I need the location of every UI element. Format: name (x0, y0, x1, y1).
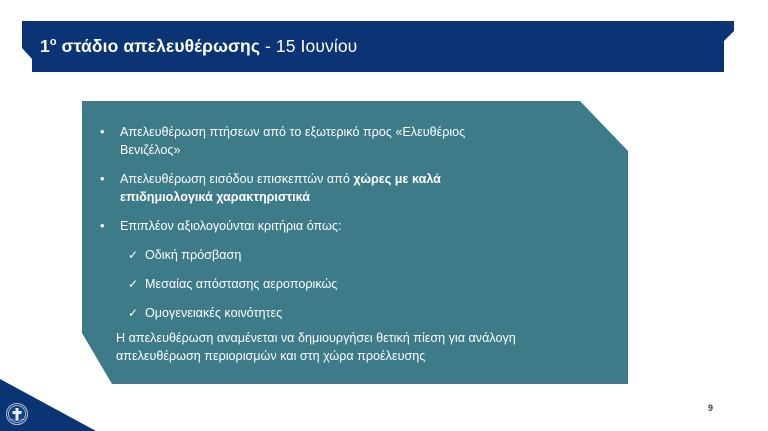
list-item: • Επιπλέον αξιολογούνται κριτήρια όπως: (96, 217, 608, 235)
bullet-text: Απελευθέρωση πτήσεων από το εξωτερικό πρ… (120, 123, 520, 159)
closing-note: Η απελευθέρωση αναμένεται να δημιουργήσε… (96, 329, 528, 365)
content-body: • Απελευθέρωση πτήσεων από το εξωτερικό … (96, 123, 608, 365)
bullet-text-normal: Απελευθέρωση πτήσεων από το εξωτερικό πρ… (120, 125, 465, 157)
slide-canvas: 1ο στάδιο απελευθέρωσης - 15 Ιουνίου • Α… (0, 0, 768, 431)
bullet-icon: • (96, 123, 120, 141)
checkmark-icon: ✓ (128, 275, 145, 293)
page-title: 1ο στάδιο απελευθέρωσης - 15 Ιουνίου (22, 36, 357, 57)
checkmark-icon: ✓ (128, 304, 145, 322)
bullet-text-normal: Απελευθέρωση εισόδου επισκεπτών από (120, 172, 353, 186)
title-superscript: ο (50, 36, 57, 48)
check-item-label: Μεσαίας απόστασης αεροπορικώς (145, 275, 608, 293)
bullet-text: Επιπλέον αξιολογούνται κριτήρια όπως: (120, 217, 520, 235)
bullet-icon: • (96, 217, 120, 235)
check-item-label: Ομογενειακές κοινότητες (145, 304, 608, 322)
checkmark-icon: ✓ (128, 246, 145, 264)
list-item: ✓ Οδική πρόσβαση (96, 246, 608, 264)
bullet-text-normal: Επιπλέον αξιολογούνται κριτήρια όπως: (120, 219, 341, 233)
title-banner: 1ο στάδιο απελευθέρωσης - 15 Ιουνίου (22, 21, 734, 72)
bullet-text: Απελευθέρωση εισόδου επισκεπτών από χώρε… (120, 170, 520, 206)
title-number: 1 (40, 36, 50, 56)
title-separator: - (260, 36, 276, 56)
hellenic-republic-emblem-icon (6, 403, 28, 425)
bullet-icon: • (96, 170, 120, 188)
list-item: ✓ Μεσαίας απόστασης αεροπορικώς (96, 275, 608, 293)
list-item: • Απελευθέρωση πτήσεων από το εξωτερικό … (96, 123, 608, 159)
check-item-label: Οδική πρόσβαση (145, 246, 608, 264)
title-bold-part: στάδιο απελευθέρωσης (57, 36, 260, 56)
slide-number: 9 (708, 403, 713, 413)
content-panel: • Απελευθέρωση πτήσεων από το εξωτερικό … (82, 101, 628, 384)
list-item: ✓ Ομογενειακές κοινότητες (96, 304, 608, 322)
list-item: • Απελευθέρωση εισόδου επισκεπτών από χώ… (96, 170, 608, 206)
title-date: 15 Ιουνίου (276, 36, 357, 56)
